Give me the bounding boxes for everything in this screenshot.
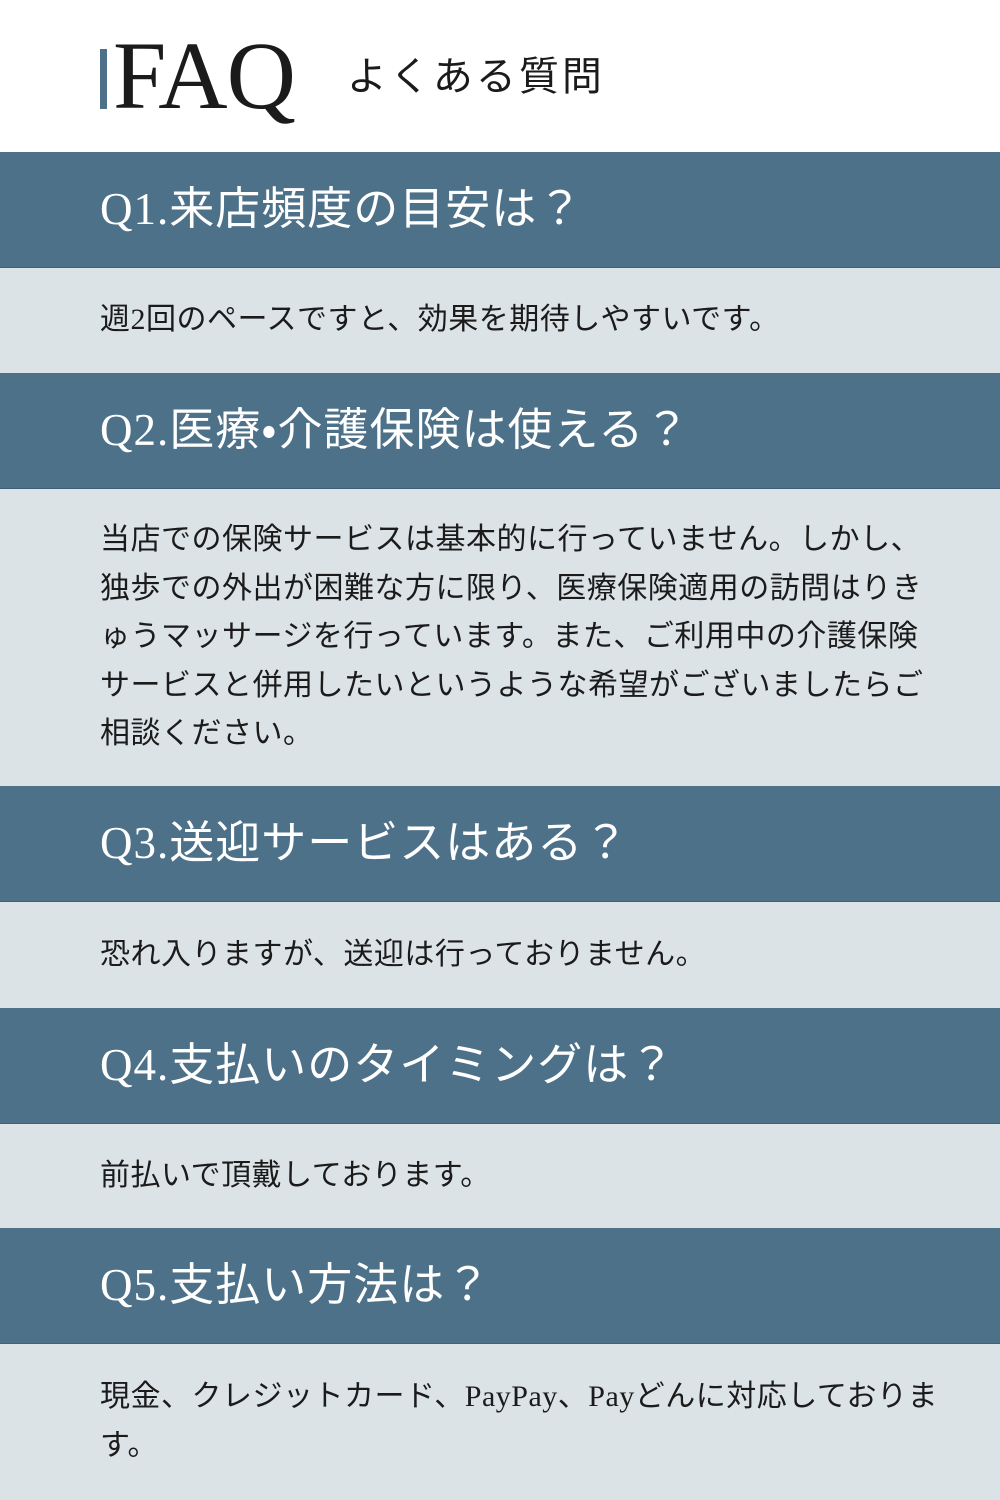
faq-item-1: Q1.来店頻度の目安は？ 週2回のペースですと、効果を期待しやすいです。 [0,152,1000,373]
faq-answer-3: 恐れ入りますが、送迎は行っておりません。 [0,902,1000,1008]
faq-answer-text-5: 現金、クレジットカード、PayPay、Payどんに対応しております。 [100,1373,940,1470]
accent-bar-icon [100,49,107,109]
faq-answer-text-2: 当店での保険サービスは基本的に行っていません。しかし、独歩での外出が困難な方に限… [100,516,940,759]
page-title: FAQ [113,30,295,121]
faq-answer-1: 週2回のペースですと、効果を期待しやすいです。 [0,268,1000,373]
faq-answer-text-3: 恐れ入りますが、送迎は行っておりません。 [100,931,940,980]
faq-answer-4: 前払いで頂戴しております。 [0,1124,1000,1228]
faq-question-5[interactable]: Q5.支払い方法は？ [0,1228,1000,1344]
faq-question-1[interactable]: Q1.来店頻度の目安は？ [0,152,1000,268]
faq-page: FAQ よくある質問 Q1.来店頻度の目安は？ 週2回のペースですと、効果を期待… [0,0,1000,1500]
faq-answer-5: 現金、クレジットカード、PayPay、Payどんに対応しております。 [0,1344,1000,1500]
faq-answer-text-1: 週2回のペースですと、効果を期待しやすいです。 [100,296,940,345]
faq-question-4[interactable]: Q4.支払いのタイミングは？ [0,1008,1000,1124]
faq-list: Q1.来店頻度の目安は？ 週2回のペースですと、効果を期待しやすいです。 Q2.… [0,152,1000,1500]
faq-answer-2: 当店での保険サービスは基本的に行っていません。しかし、独歩での外出が困難な方に限… [0,489,1000,786]
page-header: FAQ よくある質問 [0,0,1000,152]
page-subtitle: よくある質問 [347,44,605,108]
faq-item-2: Q2.医療・介護保険は使える？ 当店での保険サービスは基本的に行っていません。し… [0,373,1000,786]
faq-answer-text-4: 前払いで頂戴しております。 [100,1152,940,1201]
faq-question-3[interactable]: Q3.送迎サービスはある？ [0,786,1000,902]
faq-item-3: Q3.送迎サービスはある？ 恐れ入りますが、送迎は行っておりません。 [0,786,1000,1008]
faq-question-2[interactable]: Q2.医療・介護保険は使える？ [0,373,1000,489]
faq-item-4: Q4.支払いのタイミングは？ 前払いで頂戴しております。 [0,1008,1000,1228]
faq-item-5: Q5.支払い方法は？ 現金、クレジットカード、PayPay、Payどんに対応して… [0,1228,1000,1500]
